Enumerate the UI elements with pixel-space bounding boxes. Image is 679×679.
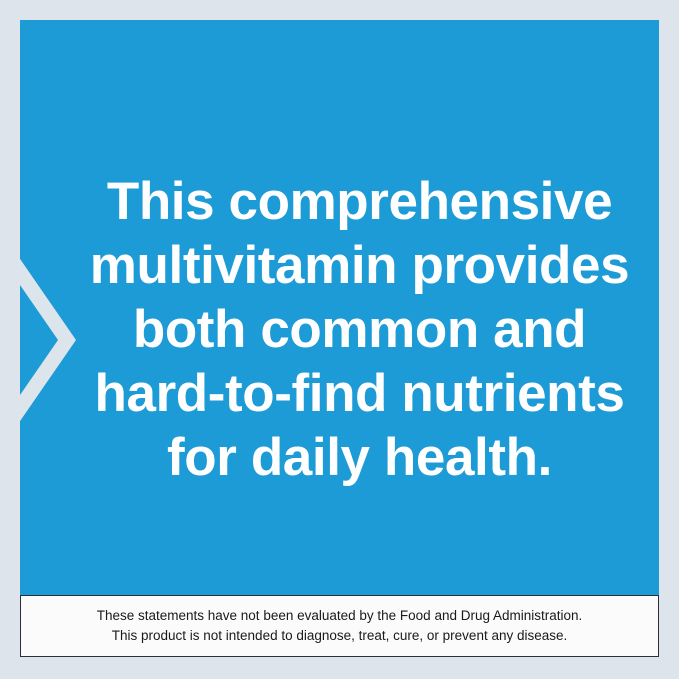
disclaimer-line-1: These statements have not been evaluated… (97, 606, 583, 626)
headline-line-4: hard-to-find nutrients (40, 362, 679, 426)
fda-disclaimer-box: These statements have not been evaluated… (20, 595, 659, 657)
headline-line-5: for daily health. (40, 426, 679, 490)
headline-line-2: multivitamin provides (40, 234, 679, 298)
product-info-card: This comprehensive multivitamin provides… (0, 0, 679, 679)
headline-line-3: both common and (40, 298, 679, 362)
headline-text: This comprehensive multivitamin provides… (40, 170, 679, 490)
blue-banner-panel: This comprehensive multivitamin provides… (20, 20, 659, 595)
headline-line-1: This comprehensive (40, 170, 679, 234)
disclaimer-line-2: This product is not intended to diagnose… (112, 626, 568, 646)
